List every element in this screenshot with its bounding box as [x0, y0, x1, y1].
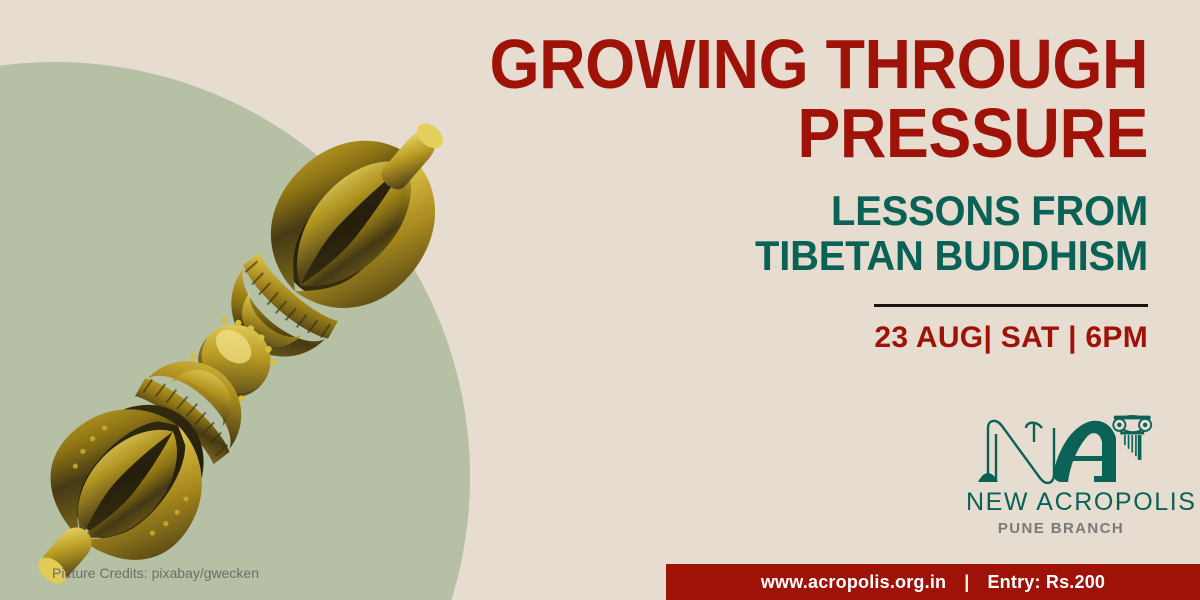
- poster-text-column: GROWING THROUGH PRESSURE LESSONS FROM TI…: [428, 0, 1148, 355]
- event-schedule: 23 AUG| SAT | 6PM: [428, 307, 1148, 355]
- website-link[interactable]: www.acropolis.org.in: [761, 572, 946, 593]
- footer-bar: www.acropolis.org.in | Entry: Rs.200: [666, 564, 1200, 600]
- entry-fee: Entry: Rs.200: [987, 572, 1105, 593]
- picture-credits: Picture Credits: pixabay/gwecken: [52, 565, 259, 581]
- headline-line-2: PRESSURE: [486, 99, 1148, 168]
- subtitle-line-2: TIBETAN BUDDHISM: [464, 234, 1148, 279]
- page-title: GROWING THROUGH PRESSURE: [486, 0, 1148, 167]
- headline-line-1: GROWING THROUGH: [489, 25, 1148, 103]
- subtitle-line-1: LESSONS FROM: [464, 189, 1148, 234]
- ionic-column-capital-icon: [1113, 416, 1151, 460]
- sage-circle-decoration: [0, 62, 470, 600]
- na-monogram-icon: [966, 408, 1156, 486]
- logo-branch: PUNE BRANCH: [966, 517, 1156, 537]
- footer-separator: |: [964, 572, 969, 593]
- organization-logo: NEW ACROPOLIS PUNE BRANCH: [966, 408, 1156, 537]
- page-subtitle: LESSONS FROM TIBETAN BUDDHISM: [464, 167, 1148, 278]
- event-poster: GROWING THROUGH PRESSURE LESSONS FROM TI…: [0, 0, 1200, 600]
- logo-name: NEW ACROPOLIS: [966, 486, 1156, 517]
